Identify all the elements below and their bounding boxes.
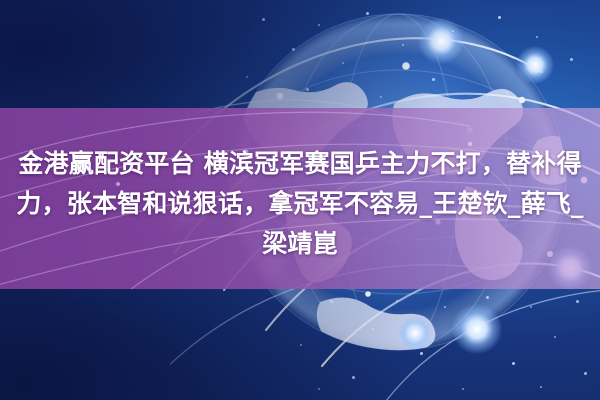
image-canvas: 金港赢配资平台 横滨冠军赛国乒主力不打，替补得力，张本智和说狠话，拿冠军不容易_…: [0, 0, 600, 400]
headline-text: 金港赢配资平台 横滨冠军赛国乒主力不打，替补得力，张本智和说狠话，拿冠军不容易_…: [0, 108, 600, 289]
